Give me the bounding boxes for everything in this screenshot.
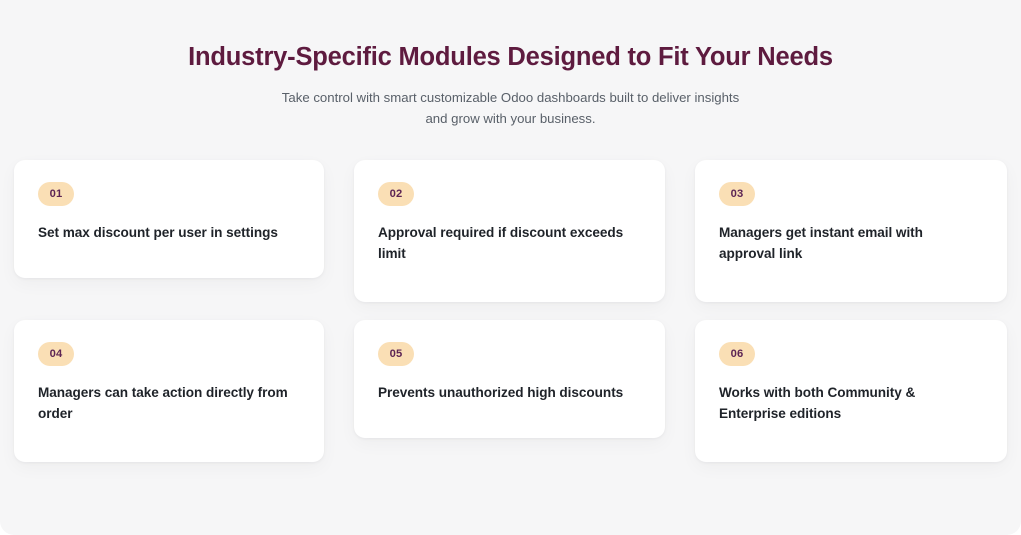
feature-card-04[interactable]: 04 Managers can take action directly fro…	[14, 320, 324, 462]
card-number-badge: 05	[378, 342, 414, 366]
section-header: Industry-Specific Modules Designed to Fi…	[0, 42, 1021, 130]
feature-card-01[interactable]: 01 Set max discount per user in settings	[14, 160, 324, 278]
feature-card-03[interactable]: 03 Managers get instant email with appro…	[695, 160, 1007, 302]
card-number-badge: 04	[38, 342, 74, 366]
feature-card-02[interactable]: 02 Approval required if discount exceeds…	[354, 160, 665, 302]
section-subtitle: Take control with smart customizable Odo…	[60, 87, 961, 130]
card-title: Managers can take action directly from o…	[38, 383, 300, 424]
card-title: Works with both Community & Enterprise e…	[719, 383, 979, 424]
card-number-badge: 02	[378, 182, 414, 206]
feature-card-05[interactable]: 05 Prevents unauthorized high discounts	[354, 320, 665, 438]
card-title: Prevents unauthorized high discounts	[378, 383, 641, 404]
card-number-badge: 03	[719, 182, 755, 206]
features-section: Industry-Specific Modules Designed to Fi…	[0, 0, 1021, 535]
feature-card-06[interactable]: 06 Works with both Community & Enterpris…	[695, 320, 1007, 462]
feature-card-grid: 01 Set max discount per user in settings…	[14, 160, 1007, 462]
card-title: Set max discount per user in settings	[38, 223, 298, 244]
card-number-badge: 06	[719, 342, 755, 366]
card-title: Managers get instant email with approval…	[719, 223, 979, 264]
subtitle-line-1: Take control with smart customizable Odo…	[282, 90, 739, 105]
page-title: Industry-Specific Modules Designed to Fi…	[60, 42, 961, 73]
subtitle-line-2: and grow with your business.	[425, 111, 595, 126]
card-number-badge: 01	[38, 182, 74, 206]
card-title: Approval required if discount exceeds li…	[378, 223, 638, 264]
